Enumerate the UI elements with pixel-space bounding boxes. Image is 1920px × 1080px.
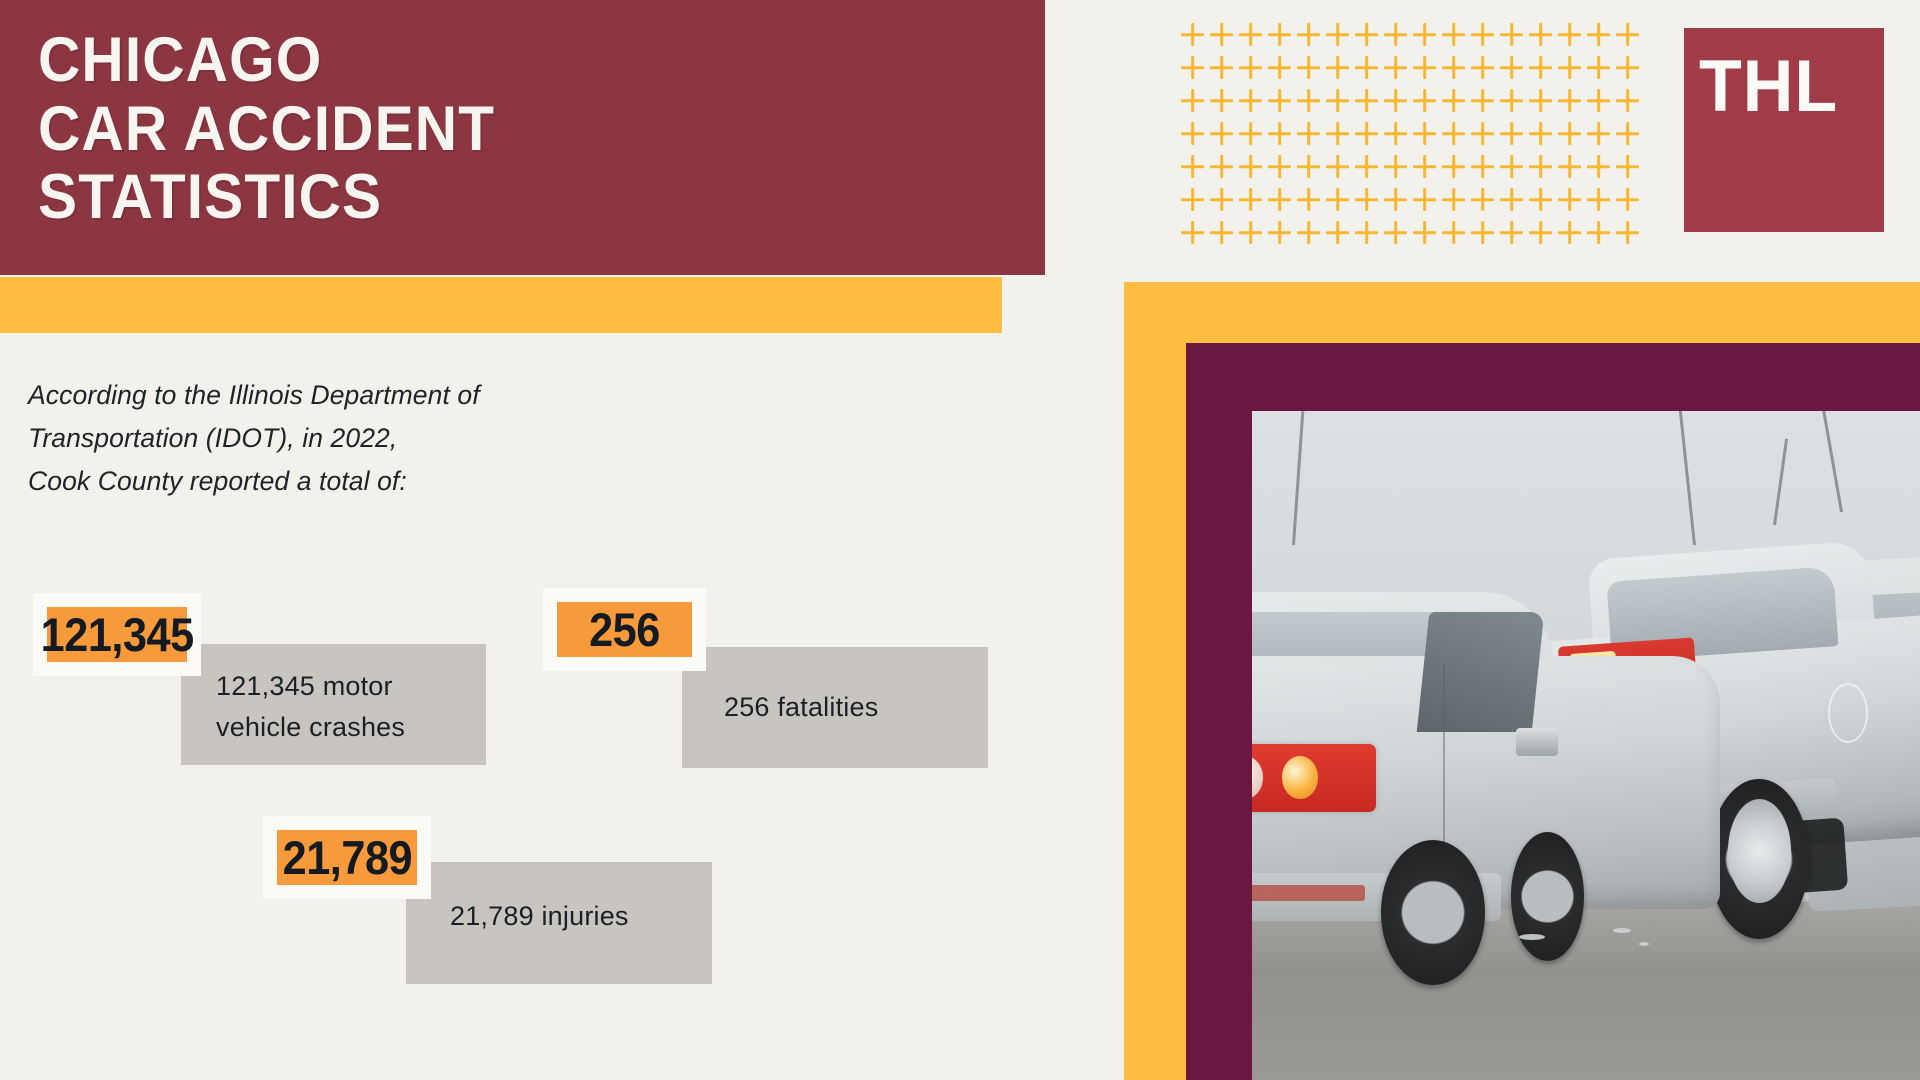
plus-icon (1265, 86, 1294, 115)
plus-icon (1468, 119, 1497, 148)
plus-icon (1294, 53, 1323, 82)
photo-wheel (1511, 832, 1584, 960)
plus-icon (1323, 20, 1352, 49)
stat-badge-value: 121,345 (47, 607, 187, 662)
plus-icon (1265, 185, 1294, 214)
plus-icon (1555, 53, 1584, 82)
plus-icon (1323, 152, 1352, 181)
thl-logo[interactable]: THL (1684, 28, 1884, 232)
plus-icon (1439, 86, 1468, 115)
plus-icon (1207, 185, 1236, 214)
plus-icon (1613, 218, 1642, 247)
plus-icon (1410, 53, 1439, 82)
plus-icon (1236, 119, 1265, 148)
plus-icon (1381, 119, 1410, 148)
plus-icon (1497, 185, 1526, 214)
plus-icon (1178, 53, 1207, 82)
plus-icon (1265, 119, 1294, 148)
plus-icon (1497, 119, 1526, 148)
plus-icon (1439, 119, 1468, 148)
photo-taillight (1252, 744, 1376, 812)
plus-icon (1613, 119, 1642, 148)
plus-icon (1439, 20, 1468, 49)
plus-icon (1294, 20, 1323, 49)
plus-icon (1526, 152, 1555, 181)
plus-icon (1497, 20, 1526, 49)
photo-inner-frame (1186, 343, 1920, 1080)
photo-wheel (1381, 840, 1485, 985)
plus-icon (1584, 152, 1613, 181)
plus-icon (1468, 86, 1497, 115)
plus-icon (1526, 20, 1555, 49)
stat-label: 21,789 injuries (406, 862, 712, 984)
plus-icon (1497, 53, 1526, 82)
logo-text: THL (1699, 50, 1838, 123)
plus-icon (1265, 152, 1294, 181)
plus-icon (1207, 152, 1236, 181)
plus-icon (1236, 152, 1265, 181)
plus-icon (1410, 152, 1439, 181)
photo-reflector (1252, 885, 1365, 901)
plus-icon (1323, 86, 1352, 115)
plus-icon (1294, 185, 1323, 214)
plus-icon (1613, 185, 1642, 214)
plus-icon (1584, 218, 1613, 247)
plus-icon (1526, 185, 1555, 214)
plus-icon (1207, 86, 1236, 115)
page-title: CHICAGO CAR ACCIDENT STATISTICS (38, 26, 495, 232)
header-accent-bar (0, 277, 1002, 333)
stat-badge-value: 256 (557, 602, 692, 657)
plus-icon (1207, 119, 1236, 148)
plus-icon (1178, 218, 1207, 247)
plus-icon (1236, 185, 1265, 214)
plus-icon (1584, 53, 1613, 82)
stat-badge-frame: 256 (543, 588, 706, 671)
plus-icon (1381, 86, 1410, 115)
header-banner: CHICAGO CAR ACCIDENT STATISTICS (0, 0, 1045, 275)
plus-icon (1497, 86, 1526, 115)
plus-icon (1613, 86, 1642, 115)
plus-icon (1352, 119, 1381, 148)
plus-icon (1178, 20, 1207, 49)
plus-icon (1381, 218, 1410, 247)
plus-icon (1526, 119, 1555, 148)
plus-icon (1410, 86, 1439, 115)
plus-icon (1526, 53, 1555, 82)
plus-icon (1265, 218, 1294, 247)
stat-label: 256 fatalities (682, 647, 988, 768)
plus-icon (1468, 53, 1497, 82)
intro-paragraph: According to the Illinois Department of … (28, 374, 728, 503)
photo-debris (1519, 934, 1545, 940)
photo-debris (1613, 928, 1631, 933)
plus-icon (1207, 20, 1236, 49)
plus-icon (1555, 152, 1584, 181)
plus-icon (1410, 218, 1439, 247)
stat-badge-frame: 21,789 (263, 816, 431, 899)
plus-icon (1613, 152, 1642, 181)
stat-badge-frame: 121,345 (33, 593, 201, 676)
plus-icon (1584, 185, 1613, 214)
plus-icon (1410, 20, 1439, 49)
plus-icon (1613, 20, 1642, 49)
plus-icon (1207, 53, 1236, 82)
stat-badge-text: 256 (589, 606, 660, 653)
plus-icon (1468, 185, 1497, 214)
plus-grid-decoration (1178, 20, 1642, 247)
plus-icon (1265, 53, 1294, 82)
plus-icon (1178, 185, 1207, 214)
photo-outer-frame (1124, 282, 1920, 1080)
plus-icon (1294, 86, 1323, 115)
plus-icon (1178, 152, 1207, 181)
plus-icon (1178, 86, 1207, 115)
plus-icon (1555, 20, 1584, 49)
plus-icon (1265, 20, 1294, 49)
photo-lamp (1282, 756, 1318, 798)
plus-icon (1352, 53, 1381, 82)
plus-icon (1497, 218, 1526, 247)
plus-icon (1468, 218, 1497, 247)
plus-icon (1526, 218, 1555, 247)
plus-icon (1381, 152, 1410, 181)
plus-icon (1439, 53, 1468, 82)
plus-icon (1236, 20, 1265, 49)
plus-icon (1381, 20, 1410, 49)
plus-icon (1497, 152, 1526, 181)
plus-icon (1613, 53, 1642, 82)
plus-icon (1468, 152, 1497, 181)
plus-icon (1178, 119, 1207, 148)
plus-icon (1439, 185, 1468, 214)
plus-icon (1526, 86, 1555, 115)
plus-icon (1352, 86, 1381, 115)
plus-icon (1236, 86, 1265, 115)
plus-icon (1584, 119, 1613, 148)
plus-icon (1584, 86, 1613, 115)
plus-icon (1555, 185, 1584, 214)
stat-label: 121,345 motor vehicle crashes (181, 644, 486, 765)
plus-icon (1555, 218, 1584, 247)
plus-icon (1207, 218, 1236, 247)
plus-icon (1555, 119, 1584, 148)
infographic-canvas: CHICAGO CAR ACCIDENT STATISTICS THL Acco… (0, 0, 1920, 1080)
plus-icon (1294, 218, 1323, 247)
plus-icon (1410, 119, 1439, 148)
photo-door-glass (1416, 612, 1543, 732)
plus-icon (1410, 185, 1439, 214)
plus-icon (1294, 119, 1323, 148)
plus-icon (1323, 185, 1352, 214)
plus-icon (1236, 218, 1265, 247)
photo-lamp (1252, 756, 1263, 798)
plus-icon (1352, 152, 1381, 181)
plus-icon (1555, 86, 1584, 115)
plus-icon (1352, 185, 1381, 214)
stat-badge-value: 21,789 (277, 830, 417, 885)
plus-icon (1584, 20, 1613, 49)
plus-icon (1439, 218, 1468, 247)
photo-car-rear (1252, 592, 1720, 993)
plus-icon (1323, 53, 1352, 82)
photo-fuel-cap (1828, 683, 1868, 743)
stat-badge-text: 121,345 (40, 611, 193, 658)
plus-icon (1352, 20, 1381, 49)
plus-icon (1381, 53, 1410, 82)
plus-icon (1294, 152, 1323, 181)
plus-icon (1439, 152, 1468, 181)
stat-badge-text: 21,789 (282, 834, 412, 881)
car-crash-photo (1252, 411, 1920, 1080)
photo-side-mirror (1516, 728, 1558, 756)
plus-icon (1352, 218, 1381, 247)
plus-icon (1323, 119, 1352, 148)
plus-icon (1381, 185, 1410, 214)
plus-icon (1323, 218, 1352, 247)
photo-hubcap (1728, 799, 1792, 903)
plus-icon (1236, 53, 1265, 82)
plus-icon (1468, 20, 1497, 49)
